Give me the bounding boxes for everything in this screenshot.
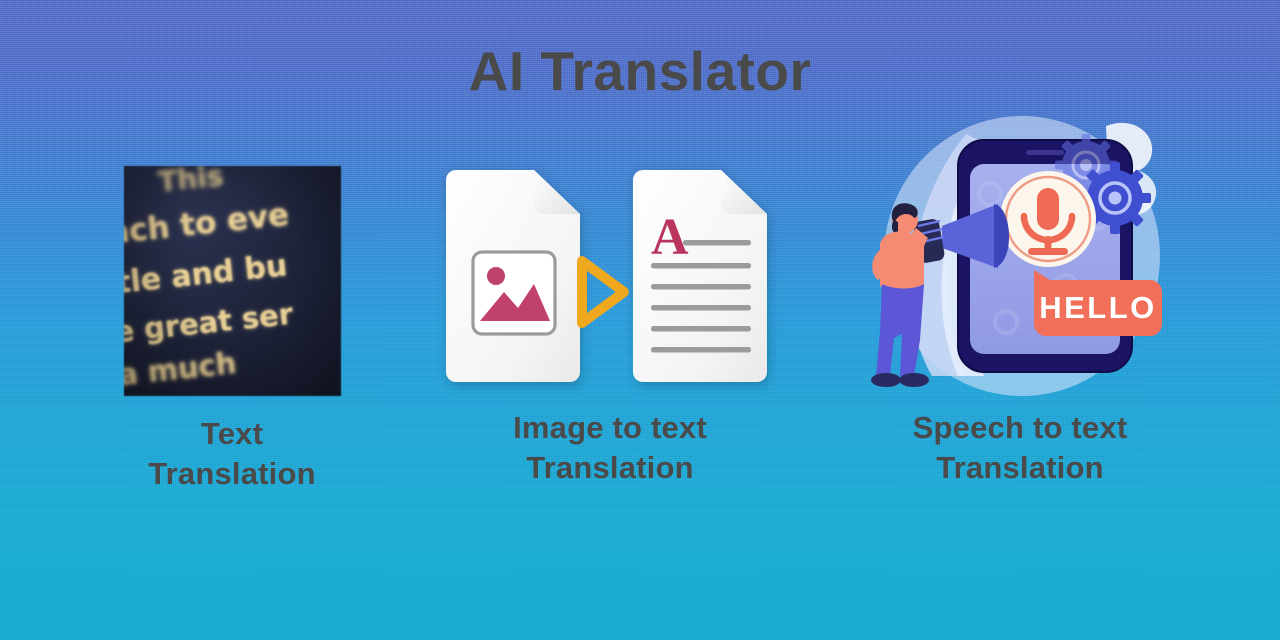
feature-text-translation[interactable]: This ach to eve stle and bu e great ser …: [86, 166, 378, 493]
feature-speech-to-text-translation[interactable]: HELLO: [852, 108, 1188, 487]
photo-vignette: [124, 166, 341, 396]
page-title: AI Translator: [0, 44, 1280, 99]
caption-line-1: Text: [86, 414, 378, 454]
transform-arrow-icon: [582, 261, 624, 323]
feature-caption: Speech to text Translation: [852, 408, 1188, 487]
documents-artwork: A: [438, 166, 782, 392]
feature-image-to-text-translation[interactable]: A Image to text Translation: [438, 166, 782, 487]
speech-to-text-svg: HELLO: [870, 108, 1170, 398]
feature-caption: Image to text Translation: [438, 408, 782, 487]
feature-caption: Text Translation: [86, 414, 378, 493]
speech-artwork: HELLO: [870, 108, 1170, 398]
caption-line-1: Speech to text: [852, 408, 1188, 448]
text-photo-thumbnail: This ach to eve stle and bu e great ser …: [124, 166, 341, 396]
speech-bubble-text: HELLO: [1039, 290, 1157, 325]
picture-icon: [473, 252, 555, 334]
microphone-icon: [1000, 171, 1096, 267]
caption-line-2: Translation: [852, 448, 1188, 488]
caption-line-1: Image to text: [438, 408, 782, 448]
caption-line-2: Translation: [86, 454, 378, 494]
caption-line-2: Translation: [438, 448, 782, 488]
image-to-text-svg: A: [438, 166, 782, 392]
poster-canvas: AI Translator This ach to eve stle and b…: [0, 0, 1280, 640]
target-letter: A: [651, 209, 689, 266]
